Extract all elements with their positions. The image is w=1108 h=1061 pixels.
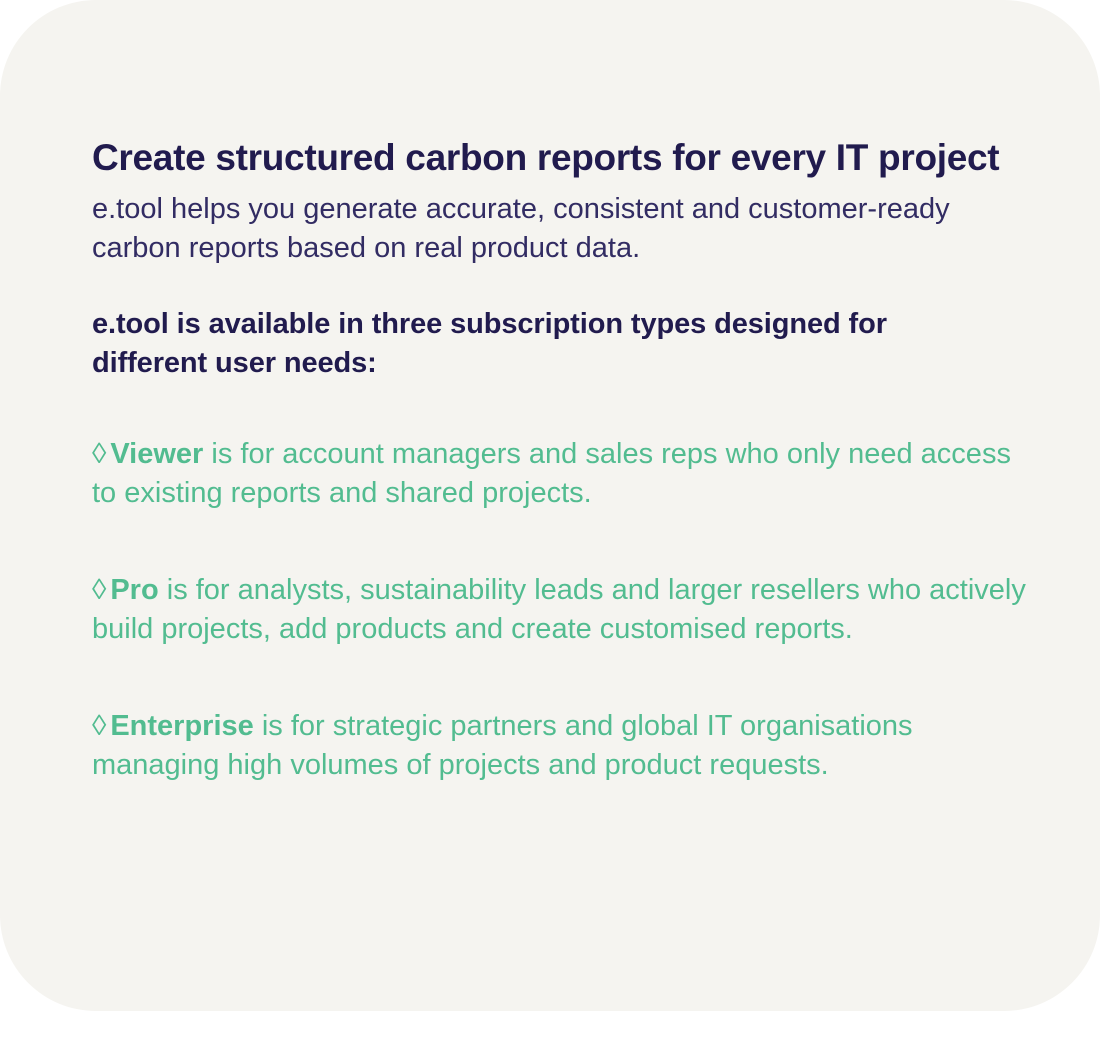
tier-name-pro: Pro (110, 574, 158, 606)
intro-paragraph: e.tool helps you generate accurate, cons… (92, 190, 992, 268)
content-body: Create structured carbon reports for eve… (92, 136, 1040, 785)
tier-name-viewer: Viewer (110, 438, 203, 470)
tier-name-enterprise: Enterprise (110, 710, 253, 742)
subscription-types-heading: e.tool is available in three subscriptio… (92, 305, 992, 383)
list-item-enterprise: ◊Enterprise is for strategic partners an… (92, 707, 1040, 785)
diamond-icon: ◊ (92, 435, 106, 474)
list-item-pro: ◊Pro is for analysts, sustainability lea… (92, 571, 1040, 649)
page-title: Create structured carbon reports for eve… (92, 136, 1040, 180)
page-stage: Create structured carbon reports for eve… (0, 0, 1108, 1061)
diamond-icon: ◊ (92, 571, 106, 610)
tier-description-pro: is for analysts, sustainability leads an… (92, 574, 1026, 645)
content-card: Create structured carbon reports for eve… (0, 0, 1100, 1011)
list-item-viewer: ◊Viewer is for account managers and sale… (92, 435, 1040, 513)
subscription-tier-list: ◊Viewer is for account managers and sale… (92, 435, 1040, 785)
tier-description-viewer: is for account managers and sales reps w… (92, 438, 1011, 509)
diamond-icon: ◊ (92, 707, 106, 746)
